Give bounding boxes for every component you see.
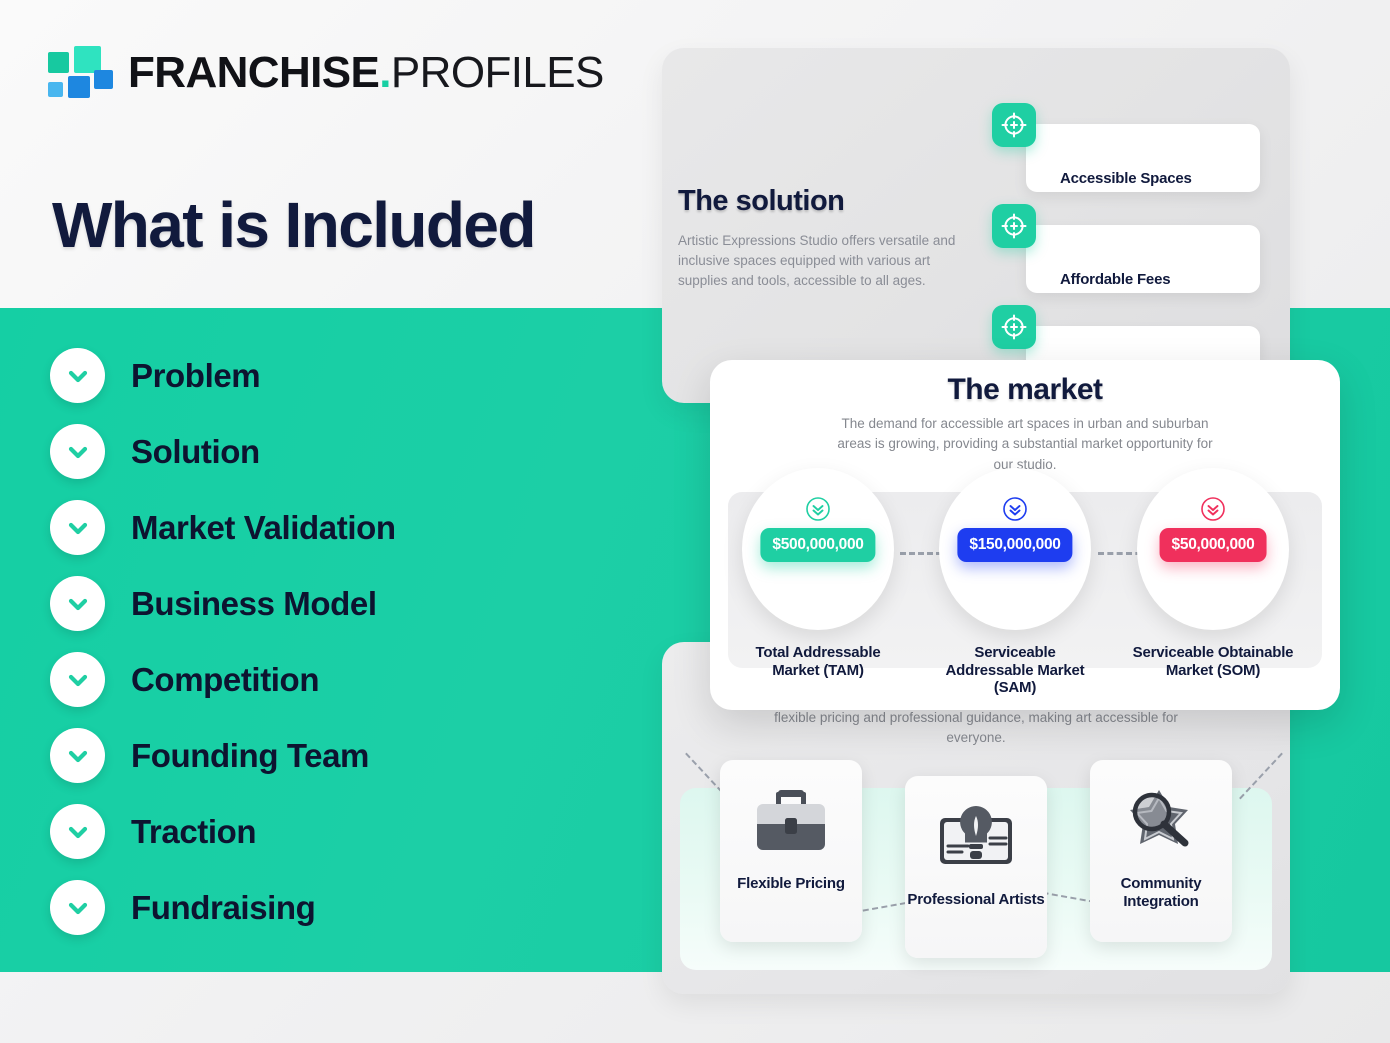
market-subtitle: The demand for accessible art spaces in …: [835, 414, 1215, 475]
double-chevron-down-icon: [1200, 496, 1226, 527]
market-card[interactable]: The market The demand for accessible art…: [710, 360, 1340, 710]
value-prop-card[interactable]: Professional Artists: [905, 776, 1047, 958]
value-prop-card[interactable]: Flexible Pricing: [720, 760, 862, 942]
market-segment-tam[interactable]: $500,000,000 Total Addressable Market (T…: [728, 468, 908, 679]
double-chevron-down-icon: [805, 496, 831, 527]
market-title: The market: [710, 373, 1340, 407]
lightbulb-board-icon: [934, 802, 1018, 877]
double-chevron-down-icon: [1002, 496, 1028, 527]
market-segment-bubble: $500,000,000: [742, 468, 894, 630]
market-value-badge: $150,000,000: [957, 528, 1072, 562]
value-props-caption: flexible pricing and professional guidan…: [766, 708, 1186, 749]
solution-body-text: Artistic Expressions Studio offers versa…: [678, 231, 958, 291]
crosshair-target-icon: [992, 305, 1036, 349]
market-segment-bubble: $50,000,000: [1137, 468, 1289, 630]
value-prop-card[interactable]: Community Integration: [1090, 760, 1232, 942]
value-prop-label: Community Integration: [1090, 875, 1232, 911]
market-value-badge: $50,000,000: [1160, 528, 1267, 562]
market-segment-label: Serviceable Obtainable Market (SOM): [1127, 644, 1299, 679]
market-value-badge: $500,000,000: [760, 528, 875, 562]
solution-feature-label: Affordable Fees: [1060, 271, 1170, 288]
market-segment-label: Serviceable Addressable Market (SAM): [929, 644, 1101, 697]
solution-heading: The solution: [678, 185, 844, 218]
value-prop-label: Flexible Pricing: [737, 875, 845, 893]
crosshair-target-icon: [992, 103, 1036, 147]
market-segment-sam[interactable]: $150,000,000 Serviceable Addressable Mar…: [925, 468, 1105, 697]
solution-card[interactable]: The solution Artistic Expressions Studio…: [662, 48, 1290, 403]
preview-collage: The solution Artistic Expressions Studio…: [0, 0, 1390, 1043]
market-segment-bubble: $150,000,000: [939, 468, 1091, 630]
value-prop-label: Professional Artists: [907, 891, 1044, 909]
market-segment-label: Total Addressable Market (TAM): [732, 644, 904, 679]
crosshair-target-icon: [992, 204, 1036, 248]
badge-magnifier-icon: [1119, 786, 1203, 861]
solution-feature-label: Accessible Spaces: [1060, 170, 1192, 187]
briefcase-icon: [749, 786, 833, 861]
market-segment-som[interactable]: $50,000,000 Serviceable Obtainable Marke…: [1123, 468, 1303, 679]
slide-canvas: FRANCHISE.PROFILES What is Included Prob…: [0, 0, 1390, 1043]
